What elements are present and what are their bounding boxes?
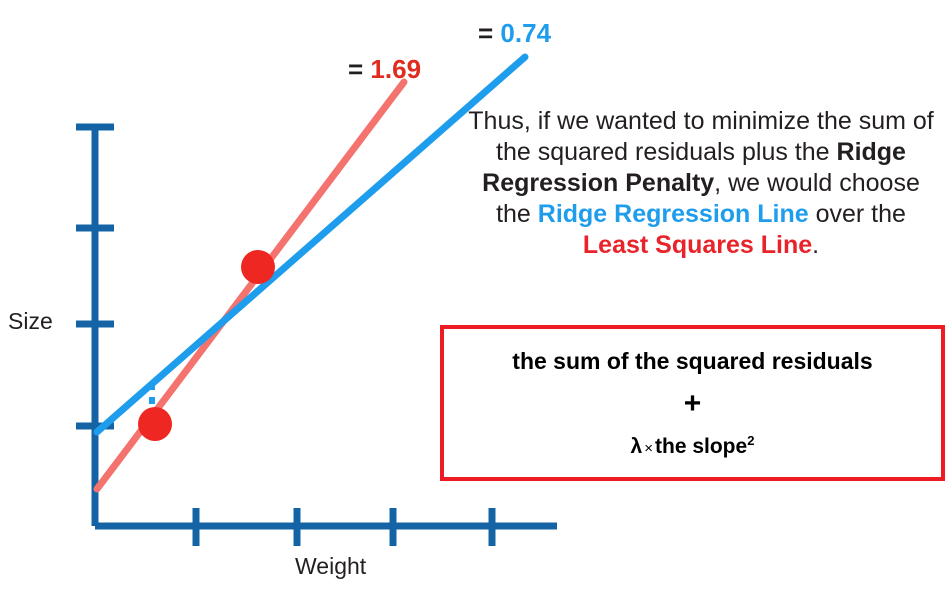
least-squares-line-keyword: Least Squares Line [583,231,812,259]
least-squares-slope-value: 1.69 [370,54,421,84]
ridge-regression-line-keyword: Ridge Regression Line [538,200,809,228]
explanation-part-3: over the [809,200,906,228]
plus-sign: + [684,389,702,419]
equals-sign-least-squares: = [348,54,363,84]
explanation-part-4: . [812,231,819,259]
penalty-formula-line-2: λ×the slope2 [631,433,755,459]
x-axis-label: Weight [295,553,366,580]
data-point-2 [241,250,275,284]
ridge-penalty-formula-box: the sum of the squared residuals + λ×the… [440,325,945,481]
chart-svg [0,0,600,592]
multiplication-sign: × [642,440,655,457]
lambda-symbol: λ [631,435,643,458]
equals-sign-ridge: = [478,18,493,48]
slope-exponent: 2 [747,433,754,448]
scatter-plot: Size Weight [0,0,600,592]
ridge-slope-callout: = 0.74 [478,18,551,49]
least-squares-slope-callout: = 1.69 [348,54,421,85]
explanation-paragraph: Thus, if we wanted to minimize the sum o… [466,106,936,261]
slope-text: the slope [655,435,747,458]
data-point-1 [138,407,172,441]
slide-canvas: Size Weight = 1.69 = 0.74 Thus, if we wa… [0,0,952,592]
y-axis-label: Size [8,308,53,335]
penalty-formula-line-1: the sum of the squared residuals [512,348,872,375]
ridge-slope-value: 0.74 [500,18,551,48]
